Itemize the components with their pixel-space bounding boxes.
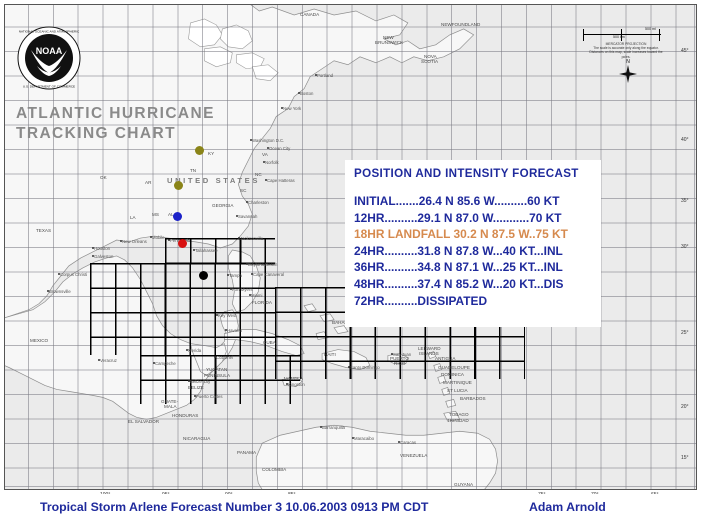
forecast-row: INITIAL.......26.4 N 85.6 W..........60 … bbox=[354, 193, 601, 210]
map-place-label: MEXICO bbox=[30, 338, 48, 343]
map-place-label: TEXAS bbox=[36, 228, 51, 233]
24hr-position-marker[interactable] bbox=[173, 212, 182, 221]
map-place-label: Cape Hatteras bbox=[267, 178, 295, 183]
map-place-label: Portland bbox=[317, 73, 333, 78]
map-place-label: GEORGIA bbox=[212, 203, 233, 208]
map-place-label: TRINIDAD bbox=[447, 418, 469, 423]
map-place-label: VA bbox=[262, 152, 268, 157]
map-place-label: Tallahassee bbox=[195, 248, 218, 253]
map-place-label: Galveston bbox=[94, 254, 113, 259]
map-place-label: DOMINICA bbox=[441, 372, 464, 377]
map-place-label: BELIZE bbox=[188, 385, 204, 390]
forecast-panel: POSITION AND INTENSITY FORECAST INITIAL.… bbox=[345, 160, 601, 327]
svg-text:U.S. DEPARTMENT OF COMMERCE: U.S. DEPARTMENT OF COMMERCE bbox=[23, 85, 75, 89]
map-place-label: EL SALVADOR bbox=[128, 419, 159, 424]
initial-position-marker[interactable] bbox=[199, 271, 208, 280]
map-place-label: Kingston bbox=[288, 382, 305, 387]
city-dot-icon bbox=[298, 92, 300, 94]
map-place-label: Daytona Beach bbox=[248, 262, 277, 267]
map-place-label: YUCATAN bbox=[206, 367, 227, 372]
city-dot-icon bbox=[120, 240, 122, 242]
noaa-logo-icon: NOAA NATIONAL OCEANIC AND ATMOSPHERIC U.… bbox=[17, 26, 81, 90]
map-place-label: TOBAGO bbox=[449, 412, 469, 417]
map-place-label: ISLANDS bbox=[419, 351, 439, 356]
city-dot-icon bbox=[267, 147, 269, 149]
map-place-label: CANADA bbox=[300, 12, 319, 17]
page-title: ATLANTIC HURRICANE TRACKING CHART bbox=[16, 104, 246, 144]
city-dot-icon bbox=[238, 237, 240, 239]
map-place-label: Veracruz bbox=[100, 358, 117, 363]
map-place-label: RICO bbox=[394, 361, 405, 366]
scale-tick-left bbox=[583, 29, 584, 41]
hurricane-tracking-chart: UNITED STATESMEXICOTEXASCANADACUBAHONDUR… bbox=[0, 0, 705, 527]
city-dot-icon bbox=[251, 273, 253, 275]
city-dot-icon bbox=[47, 290, 49, 292]
map-place-label: Boston bbox=[300, 91, 313, 96]
map-place-label: Santo Domingo bbox=[350, 365, 380, 370]
forecast-row: 24HR..........31.8 N 87.8 W...40 KT...IN… bbox=[354, 243, 601, 260]
map-place-label: ANTIGUA bbox=[435, 356, 455, 361]
map-place-label: Havana bbox=[227, 328, 242, 333]
map-place-label: ST LUCIA bbox=[447, 388, 468, 393]
map-place-label: Charleston bbox=[248, 200, 269, 205]
forecast-row: 12HR..........29.1 N 87.0 W...........70… bbox=[354, 210, 601, 227]
latitudes-tick-label: 15° bbox=[681, 455, 689, 461]
map-place-label: Belize City bbox=[190, 379, 210, 384]
map-place-label: Caracas bbox=[400, 440, 416, 445]
map-place-label: Mobile bbox=[152, 235, 165, 240]
forecast-row: 18HR LANDFALL 30.2 N 87.5 W..75 KT bbox=[354, 226, 601, 243]
map-place-label: TN bbox=[190, 168, 196, 173]
city-dot-icon bbox=[216, 314, 218, 316]
latitudes-tick-label: 40° bbox=[681, 137, 689, 143]
city-dot-icon bbox=[391, 353, 393, 355]
map-place-label: OK bbox=[100, 175, 107, 180]
map-place-label: CUBA bbox=[263, 340, 276, 345]
city-dot-icon bbox=[236, 215, 238, 217]
scale-bar: 500 km 500 mi bbox=[583, 28, 663, 42]
compass-north-label: N bbox=[626, 59, 630, 65]
latitudes-tick-label: 45° bbox=[681, 48, 689, 54]
forecast-title: POSITION AND INTENSITY FORECAST bbox=[354, 167, 601, 180]
map-place-label: FLORIDA bbox=[252, 300, 272, 305]
36hr-position-marker[interactable] bbox=[174, 181, 183, 190]
city-dot-icon bbox=[250, 139, 252, 141]
city-dot-icon bbox=[281, 107, 283, 109]
map-place-label: COLOMBIA bbox=[262, 467, 286, 472]
map-place-label: HONDURAS bbox=[172, 413, 198, 418]
city-dot-icon bbox=[214, 356, 216, 358]
map-place-label: New York bbox=[283, 106, 301, 111]
city-dot-icon bbox=[58, 273, 60, 275]
map-place-label: AR bbox=[145, 180, 151, 185]
city-dot-icon bbox=[188, 380, 190, 382]
city-dot-icon bbox=[227, 274, 229, 276]
city-dot-icon bbox=[246, 201, 248, 203]
city-dot-icon bbox=[168, 239, 170, 241]
map-place-label: PENINSULA bbox=[204, 373, 230, 378]
forecast-row: 36HR..........34.8 N 87.1 W...25 KT...IN… bbox=[354, 259, 601, 276]
city-dot-icon bbox=[286, 383, 288, 385]
map-place-label: Brownsville bbox=[49, 289, 71, 294]
city-dot-icon bbox=[249, 294, 251, 296]
map-place-label: LA bbox=[130, 215, 136, 220]
city-dot-icon bbox=[98, 359, 100, 361]
map-place-label: San Juan bbox=[393, 352, 411, 357]
map-place-label: Jacksonville bbox=[240, 236, 263, 241]
map-place-label: Corpus Christi bbox=[60, 272, 87, 277]
map-place-label: Ocean City bbox=[269, 146, 290, 151]
map-place-label: Miami bbox=[251, 293, 262, 298]
map-place-label: Campeche bbox=[155, 361, 176, 366]
scale-label-center: 500 km bbox=[613, 35, 625, 39]
scale-tick-right bbox=[659, 29, 660, 41]
city-dot-icon bbox=[225, 329, 227, 331]
city-dot-icon bbox=[193, 249, 195, 251]
city-dot-icon bbox=[246, 263, 248, 265]
map-place-label: HAITI bbox=[324, 352, 336, 357]
map-place-label: PANAMA bbox=[237, 450, 256, 455]
map-place-label: SC bbox=[240, 188, 246, 193]
city-dot-icon bbox=[92, 247, 94, 249]
city-dot-icon bbox=[153, 362, 155, 364]
city-dot-icon bbox=[263, 161, 265, 163]
landfall-position-marker[interactable] bbox=[178, 239, 187, 248]
caption-bar: Tropical Storm Arlene Forecast Number 3 … bbox=[0, 494, 705, 527]
city-dot-icon bbox=[230, 288, 232, 290]
forecast-row: 48HR..........37.4 N 85.2 W...20 KT...DI… bbox=[354, 276, 601, 293]
city-dot-icon bbox=[92, 255, 94, 257]
svg-text:NATIONAL OCEANIC AND ATMOSPHER: NATIONAL OCEANIC AND ATMOSPHERIC bbox=[19, 30, 80, 34]
map-place-label: Norfolk bbox=[265, 160, 279, 165]
city-dot-icon bbox=[150, 236, 152, 238]
map-place-label: Savannah bbox=[238, 214, 257, 219]
map-place-label: JAMAICA bbox=[283, 376, 303, 381]
map-place-label: Puerto Cortes bbox=[196, 394, 223, 399]
map-place-label: GUYANA bbox=[454, 482, 473, 487]
caption-text: Tropical Storm Arlene Forecast Number 3 … bbox=[40, 500, 428, 514]
map-place-label: New Orleans bbox=[122, 239, 147, 244]
chart-title-line-1: ATLANTIC HURRICANE bbox=[16, 104, 246, 124]
map-place-label: Fort Myers bbox=[232, 287, 253, 292]
latitudes-tick-label: 30° bbox=[681, 244, 689, 250]
map-place-label: NEWFOUNDLAND bbox=[441, 22, 480, 27]
city-dot-icon bbox=[320, 426, 322, 428]
map-place-label: MARTINIQUE bbox=[443, 380, 472, 385]
city-dot-icon bbox=[186, 349, 188, 351]
city-dot-icon bbox=[352, 437, 354, 439]
scale-label-right: 500 mi bbox=[645, 27, 656, 31]
map-place-label: Tampa bbox=[229, 273, 242, 278]
city-dot-icon bbox=[348, 366, 350, 368]
map-place-label: MS bbox=[152, 212, 159, 217]
city-dot-icon bbox=[398, 441, 400, 443]
map-place-label: MALA bbox=[164, 404, 177, 409]
city-dot-icon bbox=[315, 74, 317, 76]
forecast-row: 72HR..........DISSIPATED bbox=[354, 293, 601, 310]
map-place-label: NC bbox=[255, 172, 262, 177]
forecast-row-list: INITIAL.......26.4 N 85.6 W..........60 … bbox=[354, 193, 601, 309]
svg-text:NOAA: NOAA bbox=[36, 46, 63, 56]
map-place-label: Merida bbox=[188, 348, 201, 353]
map-place-label: NICARAGUA bbox=[183, 436, 210, 441]
map-place-label: Cozumel bbox=[216, 355, 233, 360]
map-place-label: Washington D.C. bbox=[252, 138, 284, 143]
map-place-label: KY bbox=[208, 151, 214, 156]
latitudes-tick-label: 25° bbox=[681, 330, 689, 336]
latitudes-tick-label: 35° bbox=[681, 198, 689, 204]
city-dot-icon bbox=[265, 179, 267, 181]
map-place-label: BRUNSWICK bbox=[375, 40, 403, 45]
48hr-position-marker[interactable] bbox=[195, 146, 204, 155]
map-place-label: Cape Canaveral bbox=[253, 272, 284, 277]
map-place-label: SCOTIA bbox=[421, 59, 438, 64]
latitudes-tick-label: 20° bbox=[681, 404, 689, 410]
map-place-label: BARBADOS bbox=[460, 396, 486, 401]
map-place-label: VENEZUELA bbox=[400, 453, 427, 458]
map-place-label: GUADELOUPE bbox=[438, 365, 470, 370]
map-place-label: Houston bbox=[94, 246, 110, 251]
map-place-label: Key West bbox=[218, 313, 236, 318]
caption-author: Adam Arnold bbox=[529, 500, 606, 514]
city-dot-icon bbox=[194, 395, 196, 397]
compass-rose-icon: N bbox=[616, 56, 640, 86]
map-place-label: Maracaibo bbox=[354, 436, 374, 441]
map-place-label: Barranquilla bbox=[322, 425, 345, 430]
chart-title-line-2: TRACKING CHART bbox=[16, 124, 246, 144]
